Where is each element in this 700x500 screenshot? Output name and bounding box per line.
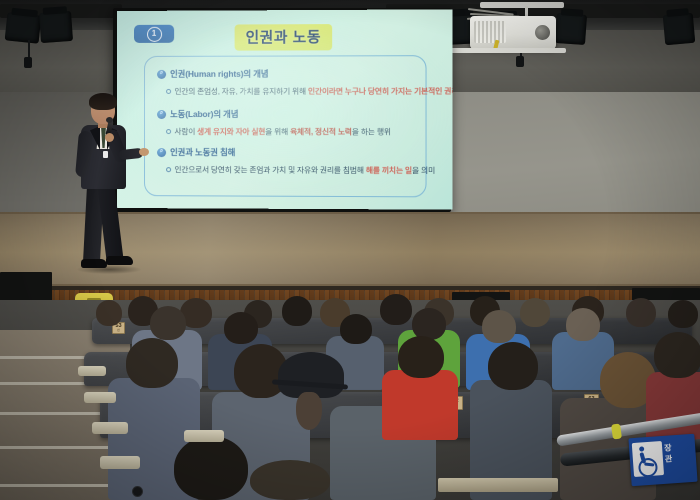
section-heading-text: 노동(Labor)의 개념 bbox=[170, 108, 238, 120]
bullet-text: 인간으로서 당연히 갖는 존엄과 가치 및 자유와 권리를 침범해 해를 끼치는… bbox=[175, 164, 436, 176]
audience-head bbox=[250, 460, 330, 500]
audience-head bbox=[150, 306, 186, 340]
presenter-shoe-left bbox=[81, 259, 107, 268]
bullet-dot-icon bbox=[166, 167, 171, 172]
projector-vent bbox=[474, 21, 506, 43]
stage-light-icon bbox=[39, 11, 73, 43]
presenter-hair bbox=[89, 93, 117, 110]
ponytail bbox=[296, 392, 322, 430]
audience-head bbox=[488, 342, 538, 390]
seat-armrest bbox=[84, 392, 116, 403]
presenter-leg-right bbox=[97, 184, 123, 262]
seat-armrest bbox=[92, 422, 128, 434]
slide-title-container: 인권과 노동 bbox=[117, 24, 452, 51]
seat-armrest bbox=[78, 366, 106, 376]
slide-section-heading-1: ⌕ 인권(Human rights)의 개념 bbox=[157, 68, 268, 80]
slide-bullet-2: 사람이 생계 유지와 자아 실현을 위해 육체적, 정신적 노력을 하는 행위 bbox=[166, 126, 391, 137]
bullet-text: 사람이 생계 유지와 자아 실현을 위해 육체적, 정신적 노력을 하는 행위 bbox=[175, 126, 391, 137]
audience-head bbox=[340, 314, 372, 344]
presenter-hand-left bbox=[105, 133, 114, 142]
bullet-dot-icon bbox=[166, 89, 171, 94]
accessibility-sign-text: 장관 bbox=[664, 442, 674, 483]
bullet-text: 인간의 존엄성, 자유, 가치를 유지하기 위해 인간이라면 누구나 당연히 가… bbox=[175, 86, 453, 97]
slide-bullet-1: 인간의 존엄성, 자유, 가치를 유지하기 위해 인간이라면 누구나 당연히 가… bbox=[166, 86, 452, 97]
folding-desk bbox=[438, 478, 558, 492]
wheelchair-icon bbox=[632, 441, 664, 477]
audience-head bbox=[126, 338, 178, 388]
rail-safety-band bbox=[611, 423, 622, 439]
section-heading-text: 인권(Human rights)의 개념 bbox=[170, 68, 268, 80]
chair-caster bbox=[132, 486, 143, 497]
audience-head bbox=[482, 310, 516, 343]
lamp-cable bbox=[28, 40, 30, 58]
projector bbox=[470, 16, 556, 49]
slide-section-heading-2: ⌕ 노동(Labor)의 개념 bbox=[157, 108, 238, 120]
audience-head bbox=[654, 332, 700, 378]
audience-head bbox=[224, 312, 258, 344]
audience-head bbox=[668, 300, 698, 328]
audience-head bbox=[398, 336, 444, 378]
audience-head bbox=[626, 298, 656, 327]
lamp-plug bbox=[24, 57, 32, 68]
seat-armrest bbox=[184, 430, 224, 442]
accessibility-sign: 장관 bbox=[628, 434, 697, 486]
page-title: 인권과 노동 bbox=[234, 24, 332, 51]
microphone-head bbox=[106, 117, 113, 123]
presenter-shoe-right bbox=[106, 256, 133, 265]
slide-bullet-3: 인간으로서 당연히 갖는 존엄과 가치 및 자유와 권리를 침범해 해를 끼치는… bbox=[166, 164, 435, 176]
audience-torso bbox=[382, 370, 458, 440]
audience-head bbox=[520, 298, 550, 327]
stage-light-icon bbox=[663, 13, 696, 46]
slide-section-heading-3: ⌕ 인권과 노동권 침해 bbox=[157, 146, 235, 158]
presenter-name-badge bbox=[103, 151, 108, 158]
audience-torso bbox=[646, 372, 700, 442]
presenter bbox=[63, 93, 143, 283]
audience-head bbox=[174, 436, 248, 500]
presenter-hand-right bbox=[139, 148, 149, 156]
audience-head bbox=[566, 308, 600, 341]
presentation-slide: 1 인권과 노동 ⌕ 인권(Human rights)의 개념 인간의 존엄성,… bbox=[117, 9, 452, 209]
audience-head bbox=[282, 296, 312, 326]
magnifier-icon: ⌕ bbox=[157, 110, 166, 119]
stage-light-icon bbox=[555, 13, 587, 45]
bullet-dot-icon bbox=[166, 129, 171, 134]
seat-armrest bbox=[100, 456, 140, 469]
audience-head bbox=[380, 294, 412, 325]
stage-light-icon bbox=[5, 12, 42, 43]
projector-lens-icon bbox=[535, 25, 550, 40]
section-heading-text: 인권과 노동권 침해 bbox=[170, 146, 235, 158]
audience-head bbox=[96, 300, 122, 326]
lamp-plug bbox=[516, 56, 524, 67]
magnifier-icon: ⌕ bbox=[157, 148, 166, 157]
auditorium-photo: 1 인권과 노동 ⌕ 인권(Human rights)의 개념 인간의 존엄성,… bbox=[0, 0, 700, 500]
magnifier-icon: ⌕ bbox=[157, 69, 166, 78]
projector-shelf bbox=[446, 48, 566, 53]
